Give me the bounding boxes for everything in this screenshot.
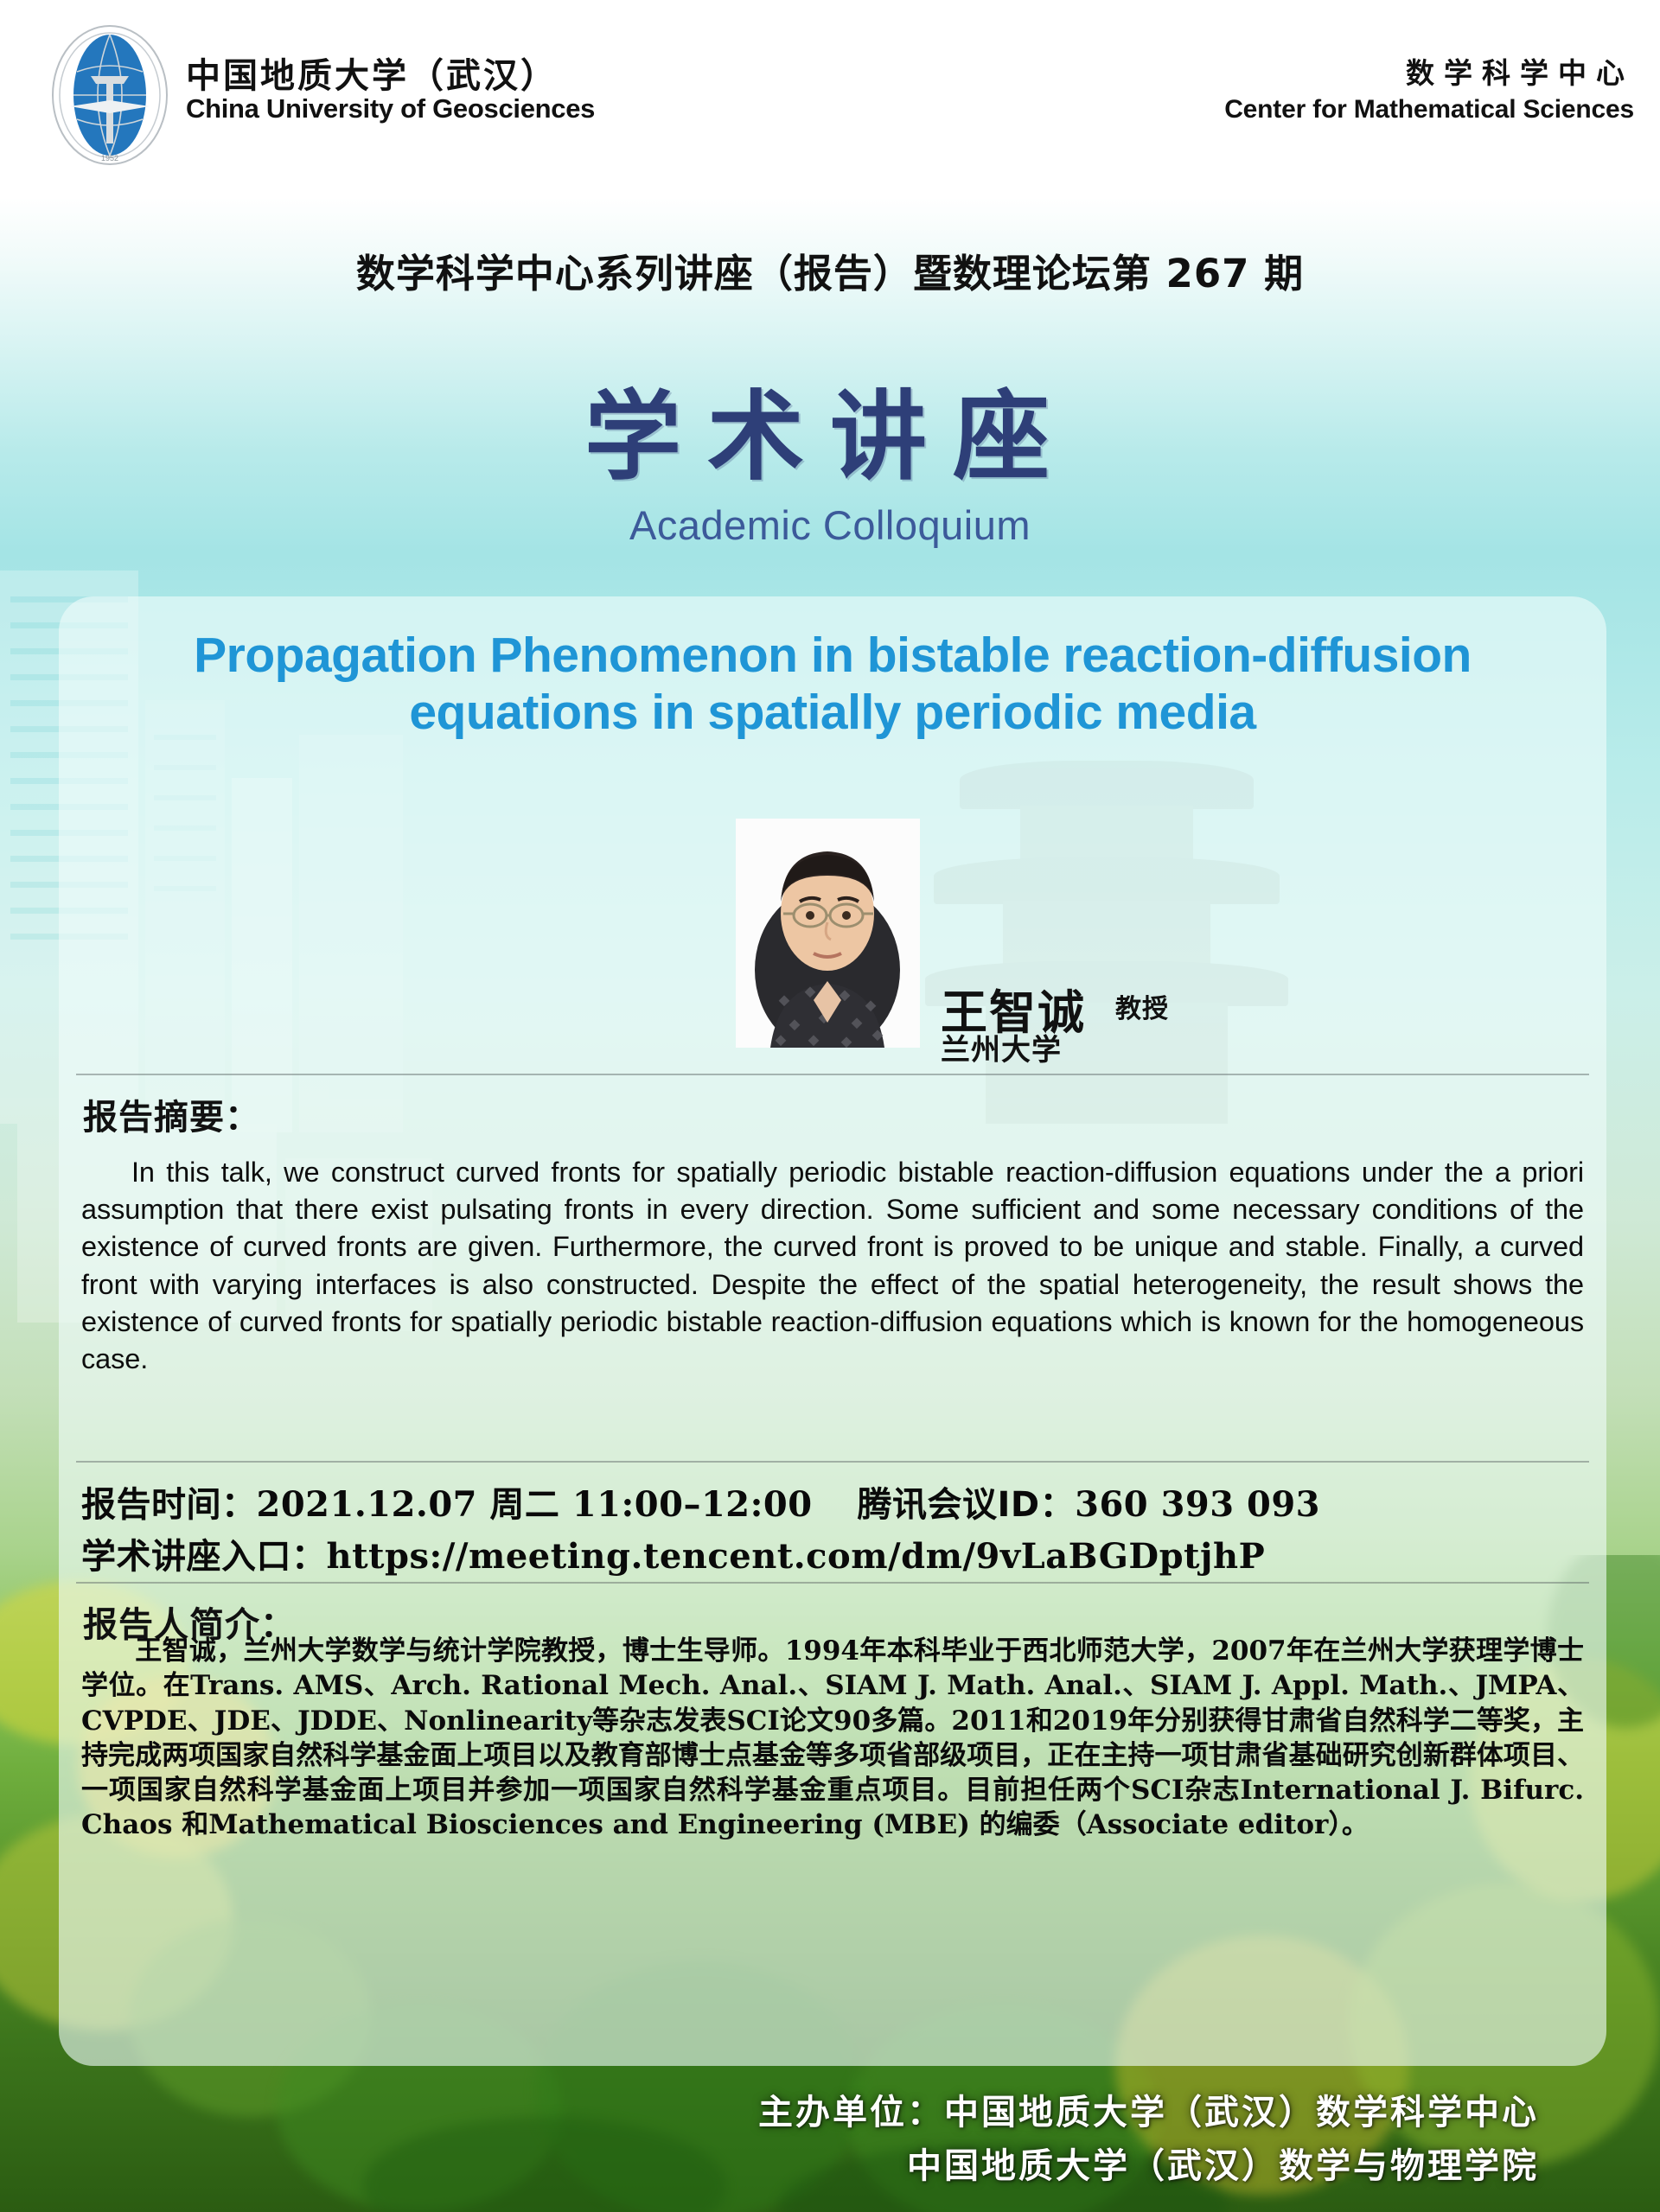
meeting-link-row[interactable]: 学术讲座入口：https://meeting.tencent.com/dm/9v… <box>81 1528 1584 1578</box>
bio-body: 王智诚，兰州大学数学与统计学院教授，博士生导师。1994年本科毕业于西北师范大学… <box>81 1634 1584 1843</box>
talk-title-line2: equations in spatially periodic media <box>409 685 1255 740</box>
university-name-cn: 中国地质大学（武汉） <box>186 48 558 98</box>
meeting-time-label: 报告时间： <box>81 1485 257 1525</box>
calligraphy-subtitle: Academic Colloquium <box>0 501 1660 549</box>
center-name-en: Center for Mathematical Sciences <box>1224 95 1634 124</box>
abstract-body: In this talk, we construct curved fronts… <box>81 1154 1584 1378</box>
divider-above-bio <box>76 1582 1589 1584</box>
svg-text:1952: 1952 <box>101 154 118 163</box>
meeting-id-label: 腾讯会议ID： <box>858 1485 1076 1525</box>
center-name-cn: 数学科学中心 <box>1406 50 1634 92</box>
abstract-heading: 报告摘要： <box>83 1089 260 1139</box>
meeting-time-row: 报告时间：2021.12.07 周二 11:00–12:00腾讯会议ID：360… <box>81 1476 1584 1527</box>
divider-above-abstract <box>76 1074 1589 1075</box>
bio-text: 王智诚，兰州大学数学与统计学院教授，博士生导师。1994年本科毕业于西北师范大学… <box>81 1635 1584 1840</box>
series-line: 数学科学中心系列讲座（报告）暨数理论坛第 267 期 <box>0 242 1660 298</box>
meeting-link-label: 学术讲座入口： <box>81 1537 327 1577</box>
content-card: Propagation Phenomenon in bistable react… <box>59 596 1606 2066</box>
speaker-title: 教授 <box>1115 987 1169 1025</box>
talk-title: Propagation Phenomenon in bistable react… <box>93 627 1572 741</box>
abstract-text: In this talk, we construct curved fronts… <box>81 1157 1584 1374</box>
poster-header: 1952 中国地质大学（武汉） China University of Geos… <box>0 0 1660 199</box>
meeting-time-value: 2021.12.07 周二 11:00–12:00 <box>257 1484 813 1525</box>
poster-footer: 主办单位：中国地质大学（武汉）数学科学中心 中国地质大学（武汉）数学与物理学院 <box>0 2086 1660 2193</box>
cug-crest-icon: 1952 <box>48 24 173 167</box>
footer-organizer-line2: 中国地质大学（武汉）数学与物理学院 <box>0 2139 1539 2193</box>
meeting-link-value[interactable]: https://meeting.tencent.com/dm/9vLaBGDpt… <box>327 1536 1266 1577</box>
calligraphy-title: 学术讲座 <box>0 359 1660 499</box>
poster-root: 1952 中国地质大学（武汉） China University of Geos… <box>0 0 1660 2212</box>
university-name-en: China University of Geosciences <box>186 93 595 124</box>
speaker-affiliation: 兰州大学 <box>941 1026 1062 1068</box>
meeting-id-value: 360 393 093 <box>1075 1484 1320 1525</box>
footer-organizer-line1: 主办单位：中国地质大学（武汉）数学科学中心 <box>0 2086 1539 2139</box>
speaker-portrait <box>736 819 920 1048</box>
divider-above-meeting <box>76 1461 1589 1463</box>
talk-title-line1: Propagation Phenomenon in bistable react… <box>194 628 1472 683</box>
